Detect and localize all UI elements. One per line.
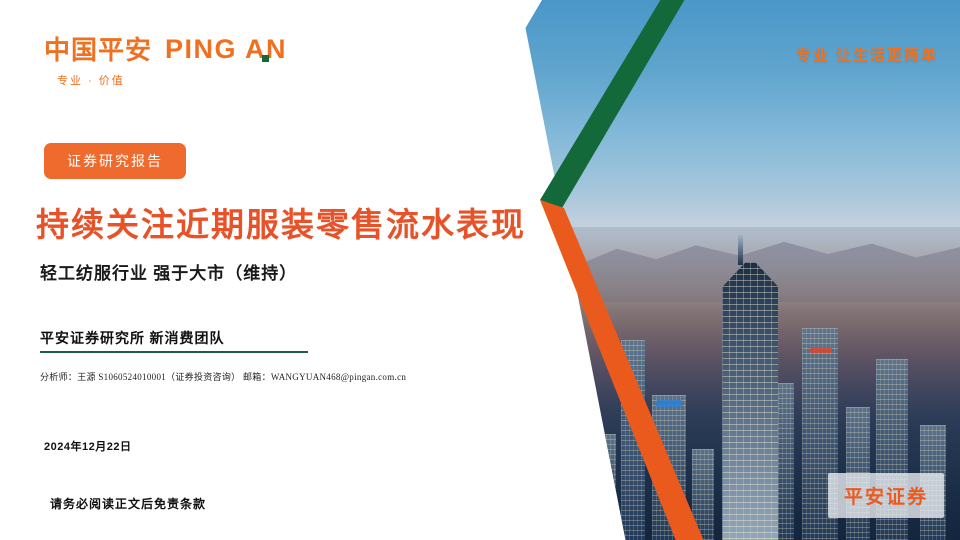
ping-an-finance-center [722,262,778,540]
pingan-logo: 中国平安 PING AN 专业 · 价值 [44,36,287,88]
report-date: 2024年12月22日 [44,438,131,454]
analyst-info: 分析师：王源 S1060524010001（证券投资咨询） 邮箱：WANGYUA… [40,370,406,383]
divider [40,351,308,353]
page-title: 持续关注近期服装零售流水表现 [36,198,526,246]
logo-green-square-icon [262,55,269,62]
tower-spire [738,235,743,265]
disclaimer-note: 请务必阅读正文后免责条款 [50,495,206,512]
logo-chinese-name: 中国平安 [44,37,152,63]
logo-tagline: 专业 · 价值 [57,72,287,88]
report-subtitle: 轻工纺服行业 强于大市（维持） [40,259,297,284]
cover-image-tagline: 专业 让生活更简单 [796,44,938,65]
corner-brand-badge: 平安证券 [828,473,944,518]
corner-brand-label: 平安证券 [844,487,928,508]
research-team: 平安证券研究所 新消费团队 [40,328,225,348]
logo-english-name: PING AN [165,36,287,63]
report-cover-slide: 专业 让生活更简单 平安证券 中国平安 PING AN 专业 · 价值 证券研究… [0,0,960,540]
report-type-badge: 证券研究报告 [44,143,186,179]
